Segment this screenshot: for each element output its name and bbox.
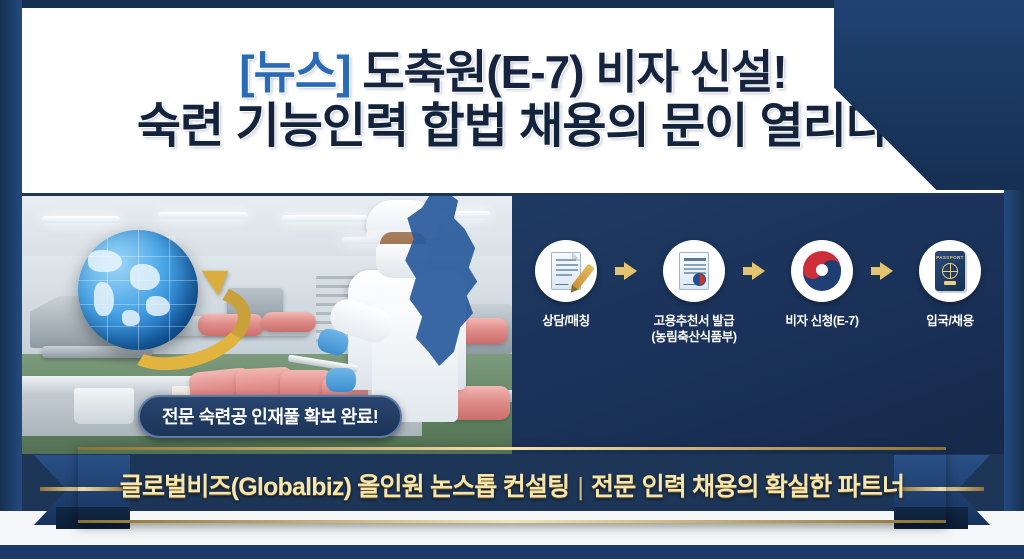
content-band: 전문 숙련공 인재풀 확보 완료! (22, 196, 1004, 454)
arrow-right-icon (617, 262, 643, 280)
step-4-label: 입국/채용 (926, 314, 973, 330)
process-step-3[interactable]: 비자 신청(E-7) (771, 240, 873, 330)
ribbon-separator: | (577, 473, 583, 501)
step-3-label: 비자 신청(E-7) (785, 314, 858, 330)
process-step-4[interactable]: PASSPORT 입국/채용 (899, 240, 1001, 330)
document-with-pen-icon (551, 252, 581, 290)
ceiling-light (158, 212, 248, 219)
bottom-ribbon: 글로벌비즈(Globalbiz) 올인원 논스톱 컨설팅|전문 인력 채용의 확… (0, 447, 1024, 559)
process-panel: 상담/매칭 (512, 196, 1004, 454)
step-1-circle (535, 240, 597, 302)
news-tag: [뉴스] (239, 46, 350, 98)
meat-tray (262, 312, 316, 332)
ribbon-text: 글로벌비즈(Globalbiz) 올인원 논스톱 컨설팅|전문 인력 채용의 확… (120, 467, 904, 503)
arrow-right-icon (745, 262, 771, 280)
ribbon-tagline: 전문 인력 채용의 확실한 파트너 (591, 473, 904, 501)
step-2-circle (663, 240, 725, 302)
process-step-1[interactable]: 상담/매칭 (515, 240, 617, 330)
certificate-with-stamp-icon (679, 252, 709, 290)
step-2-label: 고용추천서 발급 (농림축산식품부) (651, 314, 736, 345)
page-title-line-1: [뉴스] 도축원(E-7) 비자 신설! (239, 48, 786, 98)
workplace-photo: 전문 숙련공 인재풀 확보 완료! (22, 196, 512, 454)
swoosh-arrow-icon (114, 292, 226, 354)
step-4-circle: PASSPORT (919, 240, 981, 302)
ribbon-banner: 글로벌비즈(Globalbiz) 올인원 논스톱 컨설팅|전문 인력 채용의 확… (78, 447, 946, 523)
arrow-right-icon (873, 262, 899, 280)
worker-glove (326, 368, 356, 392)
frame-edge-top (0, 0, 1024, 8)
headline-block: [뉴스] 도축원(E-7) 비자 신설! 숙련 기능인력 합법 채용의 문이 열… (22, 8, 1004, 193)
page-title-line-2: 숙련 기능인력 합법 채용의 문이 열리다 (137, 101, 889, 153)
poster-root: [뉴스] 도축원(E-7) 비자 신설! 숙련 기능인력 합법 채용의 문이 열… (0, 0, 1024, 559)
process-step-2[interactable]: 고용추천서 발급 (농림축산식품부) (643, 240, 745, 345)
taeguk-government-icon (799, 248, 845, 294)
process-steps: 상담/매칭 (512, 240, 1004, 345)
passport-label: PASSPORT (935, 255, 965, 260)
step-1-label: 상담/매칭 (542, 314, 589, 330)
ribbon-brand: 글로벌비즈(Globalbiz) 올인원 논스톱 컨설팅 (120, 473, 570, 501)
photo-caption-badge: 전문 숙련공 인재풀 확보 완료! (138, 395, 402, 438)
step-3-circle (791, 240, 853, 302)
passport-icon: PASSPORT (935, 251, 965, 291)
page-title-line-1-rest: 도축원(E-7) 비자 신설! (351, 46, 787, 98)
ceiling-light (42, 216, 120, 223)
storage-bin (74, 388, 134, 424)
